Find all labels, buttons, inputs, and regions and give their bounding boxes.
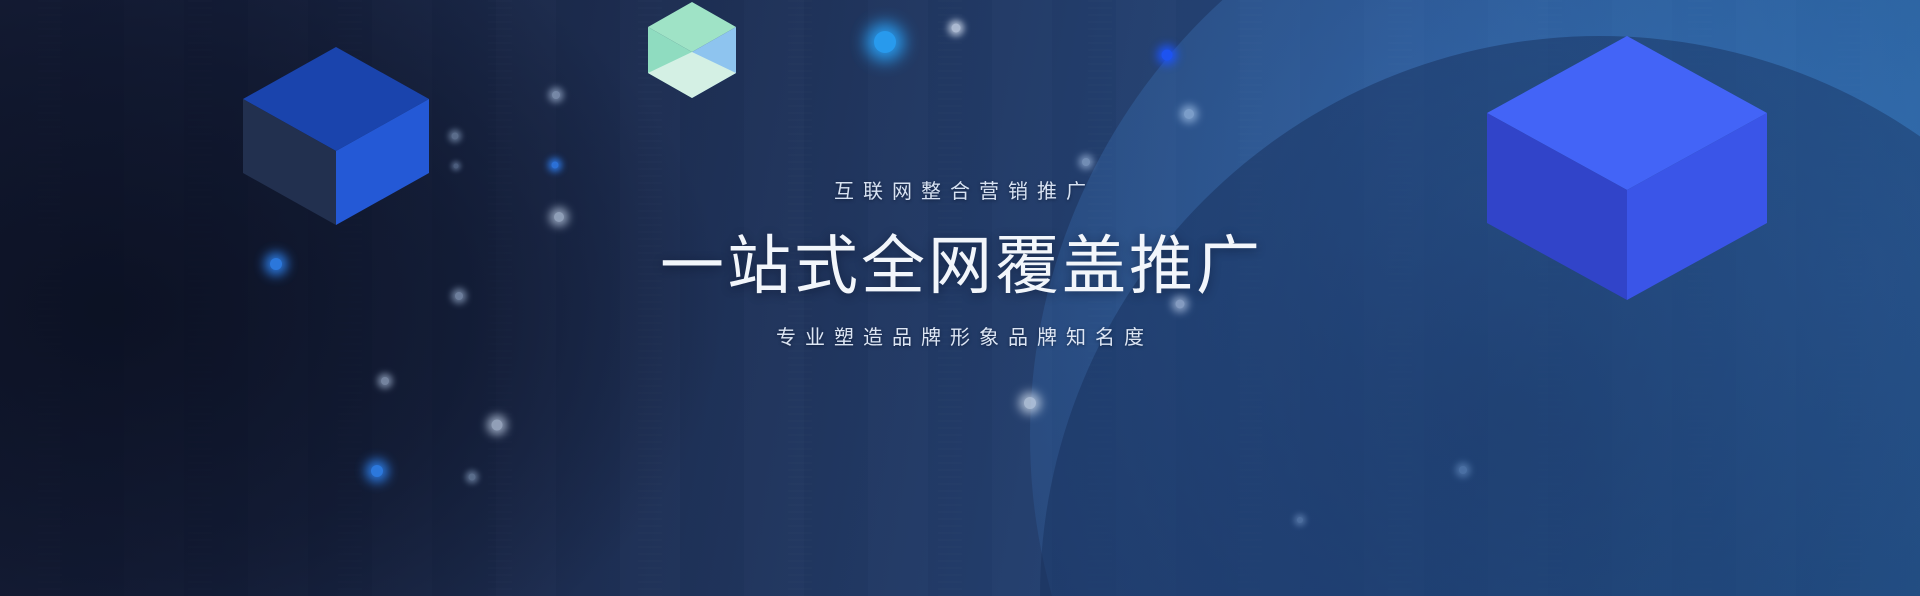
hero-banner: 互联网整合营销推广 一站式全网覆盖推广 专业塑造品牌形象品牌知名度	[0, 0, 1920, 596]
particle-dot	[381, 377, 389, 385]
hero-subline: 专业塑造品牌形象品牌知名度	[0, 324, 1920, 352]
particle-dot	[452, 133, 459, 140]
particle-dot	[469, 474, 476, 481]
particle-dot	[492, 420, 503, 431]
particle-dot	[1162, 50, 1173, 61]
particle-dot	[1082, 158, 1090, 166]
particle-dot	[874, 31, 896, 53]
particle-dot	[1459, 466, 1467, 474]
particle-dot	[1297, 517, 1303, 523]
hero-text-block: 互联网整合营销推广 一站式全网覆盖推广 专业塑造品牌形象品牌知名度	[0, 178, 1920, 352]
particle-dot	[1024, 397, 1036, 409]
hero-eyebrow: 互联网整合营销推广	[0, 178, 1920, 206]
particle-dot	[552, 91, 560, 99]
particle-dot	[952, 24, 961, 33]
particle-dot	[552, 162, 559, 169]
particle-dot	[371, 465, 383, 477]
mint-cube	[648, 2, 736, 98]
particle-dot	[1184, 109, 1194, 119]
particle-dot	[454, 164, 459, 169]
hero-headline: 一站式全网覆盖推广	[0, 226, 1920, 306]
